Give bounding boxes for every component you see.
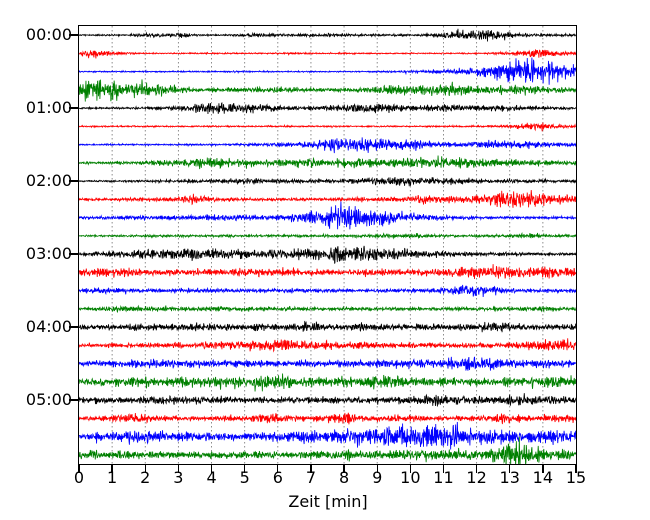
x-tick-mark xyxy=(145,465,146,473)
y-tick-label: 01:00 xyxy=(10,100,72,116)
traces-canvas xyxy=(79,26,576,464)
x-tick-mark xyxy=(377,465,378,473)
y-tick-mark xyxy=(69,107,78,108)
x-tick-mark xyxy=(542,465,543,473)
x-tick-mark xyxy=(78,465,79,473)
x-tick-mark xyxy=(509,465,510,473)
y-tick-mark xyxy=(69,399,78,400)
seismogram-figure: UTC (Lokalzeit = UTC + 02:00) 00:0001:00… xyxy=(0,0,650,520)
y-axis-tick-labels: 00:0001:0002:0003:0004:0005:00 xyxy=(0,0,72,520)
seismic-trace xyxy=(79,137,576,153)
plot-area xyxy=(78,25,577,465)
y-tick-label: 02:00 xyxy=(10,173,72,189)
x-tick-mark xyxy=(111,465,112,473)
seismic-trace xyxy=(79,246,576,264)
x-tick-mark xyxy=(343,465,344,473)
seismic-trace xyxy=(79,156,576,170)
seismic-trace xyxy=(79,321,576,332)
seismic-trace xyxy=(79,49,576,58)
seismic-trace xyxy=(79,190,576,208)
seismic-trace xyxy=(79,202,576,230)
seismic-trace xyxy=(79,393,576,406)
seismic-trace xyxy=(79,103,576,114)
seismic-trace xyxy=(79,79,576,101)
x-tick-mark xyxy=(277,465,278,473)
seismic-trace xyxy=(79,357,576,371)
seismic-trace xyxy=(79,306,576,313)
seismic-trace xyxy=(79,264,576,279)
y-tick-label: 05:00 xyxy=(10,392,72,408)
seismic-trace xyxy=(79,413,576,425)
x-tick-mark xyxy=(476,465,477,473)
x-axis-label: Zeit [min] xyxy=(78,492,578,511)
y-tick-mark xyxy=(69,180,78,181)
x-tick-mark xyxy=(244,465,245,473)
seismic-trace xyxy=(79,122,576,131)
seismic-trace xyxy=(79,422,576,450)
x-tick-mark xyxy=(575,465,576,473)
x-tick-mark xyxy=(310,465,311,473)
y-tick-label: 03:00 xyxy=(10,246,72,262)
y-tick-mark xyxy=(69,253,78,254)
seismic-trace xyxy=(79,58,576,85)
y-tick-label: 04:00 xyxy=(10,319,72,335)
seismic-trace xyxy=(79,373,576,391)
x-tick-mark xyxy=(443,465,444,473)
seismic-trace xyxy=(79,29,576,42)
y-tick-label: 00:00 xyxy=(10,27,72,43)
x-tick-mark xyxy=(211,465,212,473)
seismic-trace xyxy=(79,338,576,351)
x-tick-mark xyxy=(410,465,411,473)
x-tick-mark xyxy=(178,465,179,473)
y-tick-mark xyxy=(69,34,78,35)
seismic-trace xyxy=(79,177,576,186)
y-tick-mark xyxy=(69,326,78,327)
seismic-trace xyxy=(79,285,576,297)
seismic-trace xyxy=(79,233,576,238)
